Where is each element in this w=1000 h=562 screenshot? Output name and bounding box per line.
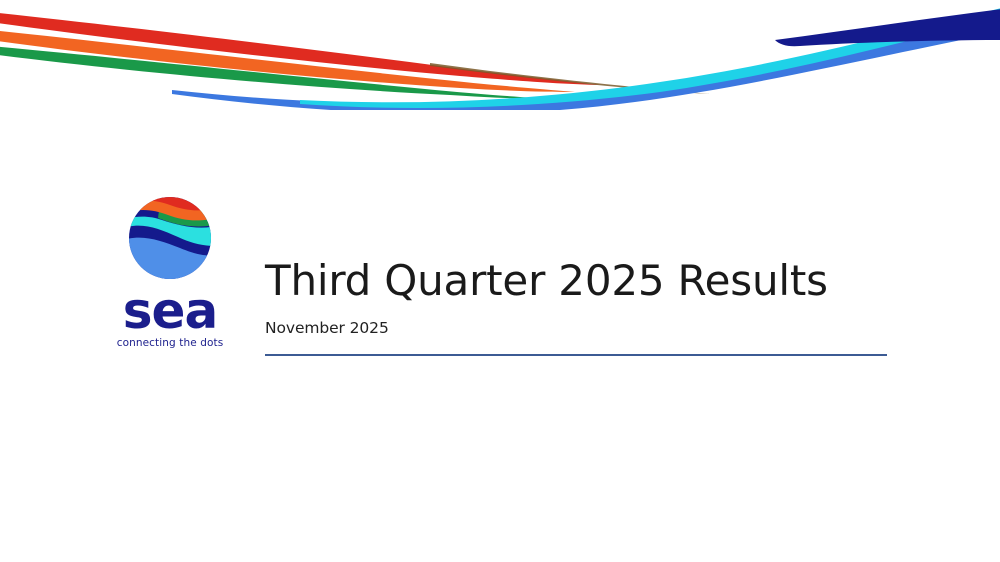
title-divider-rule (265, 354, 887, 356)
red-ribbon-shape (0, 12, 600, 85)
slide-subtitle: November 2025 (265, 318, 890, 338)
warm-ribbon-tail-shape (430, 63, 710, 94)
blue-ribbon-shape (172, 14, 1000, 110)
sea-logo: sea connecting the dots (110, 196, 230, 361)
decorative-wave-banner (0, 0, 1000, 110)
title-slide: sea connecting the dots Third Quarter 20… (0, 0, 1000, 562)
title-block: Third Quarter 2025 Results November 2025 (265, 256, 890, 356)
navy-ribbon-shape (775, 8, 1000, 46)
sea-logo-mark-icon (128, 196, 212, 280)
slide-title: Third Quarter 2025 Results (265, 256, 890, 306)
orange-ribbon-shape (0, 30, 575, 92)
green-ribbon-shape (0, 46, 552, 99)
cyan-ribbon-shape (300, 6, 1000, 108)
sea-logo-tagline: connecting the dots (110, 337, 230, 350)
sea-logo-wordmark: sea (110, 286, 230, 336)
